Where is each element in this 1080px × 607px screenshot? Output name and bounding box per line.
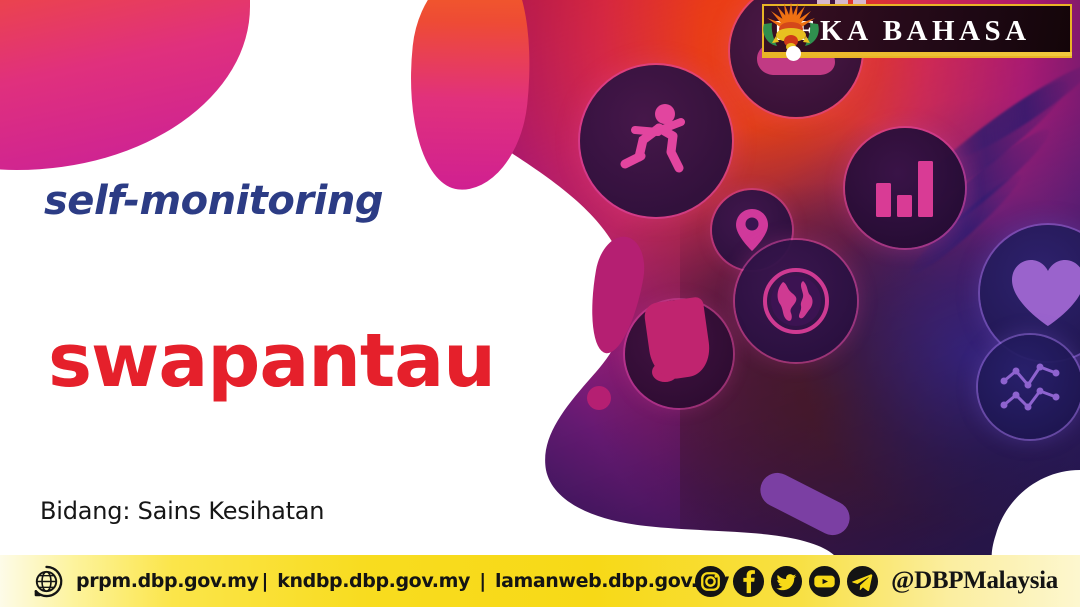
- malay-term: swapantau: [48, 318, 495, 404]
- running-person-icon: [580, 65, 732, 217]
- telegram-icon[interactable]: [846, 565, 879, 598]
- top-left-gradient-blob: [0, 0, 250, 170]
- globe-world-icon: [735, 240, 857, 362]
- social-handle[interactable]: @DBPMalaysia: [891, 567, 1058, 595]
- globe-icon: [30, 565, 63, 598]
- footer-links-group: prpm.dbp.gov.my| kndbp.dbp.gov.my | lama…: [0, 565, 729, 598]
- english-term: self-monitoring: [44, 178, 383, 224]
- link-separator: |: [259, 570, 272, 592]
- link-kndbp[interactable]: kndbp.dbp.gov.my: [277, 570, 470, 592]
- facebook-icon[interactable]: [732, 565, 765, 598]
- footer-bar: prpm.dbp.gov.my| kndbp.dbp.gov.my | lama…: [0, 555, 1080, 607]
- link-separator: |: [476, 570, 489, 592]
- field-label: Bidang: Sains Kesihatan: [40, 497, 324, 525]
- exclamation-mark-dot: [587, 386, 611, 410]
- banner-slider-knob: [786, 46, 801, 61]
- social-media-group: @DBPMalaysia: [694, 565, 1058, 598]
- bar-chart-icon: [845, 128, 965, 248]
- footer-links[interactable]: prpm.dbp.gov.my| kndbp.dbp.gov.my | lama…: [76, 570, 729, 592]
- peka-bahasa-poster: PEKA BAHASA: [0, 0, 1080, 607]
- line-chart-icon: [978, 335, 1080, 439]
- youtube-icon[interactable]: [808, 565, 841, 598]
- twitter-icon[interactable]: [770, 565, 803, 598]
- instagram-icon[interactable]: [694, 565, 727, 598]
- link-prpm[interactable]: prpm.dbp.gov.my: [76, 570, 259, 592]
- banner-tick-marks: [817, 0, 866, 4]
